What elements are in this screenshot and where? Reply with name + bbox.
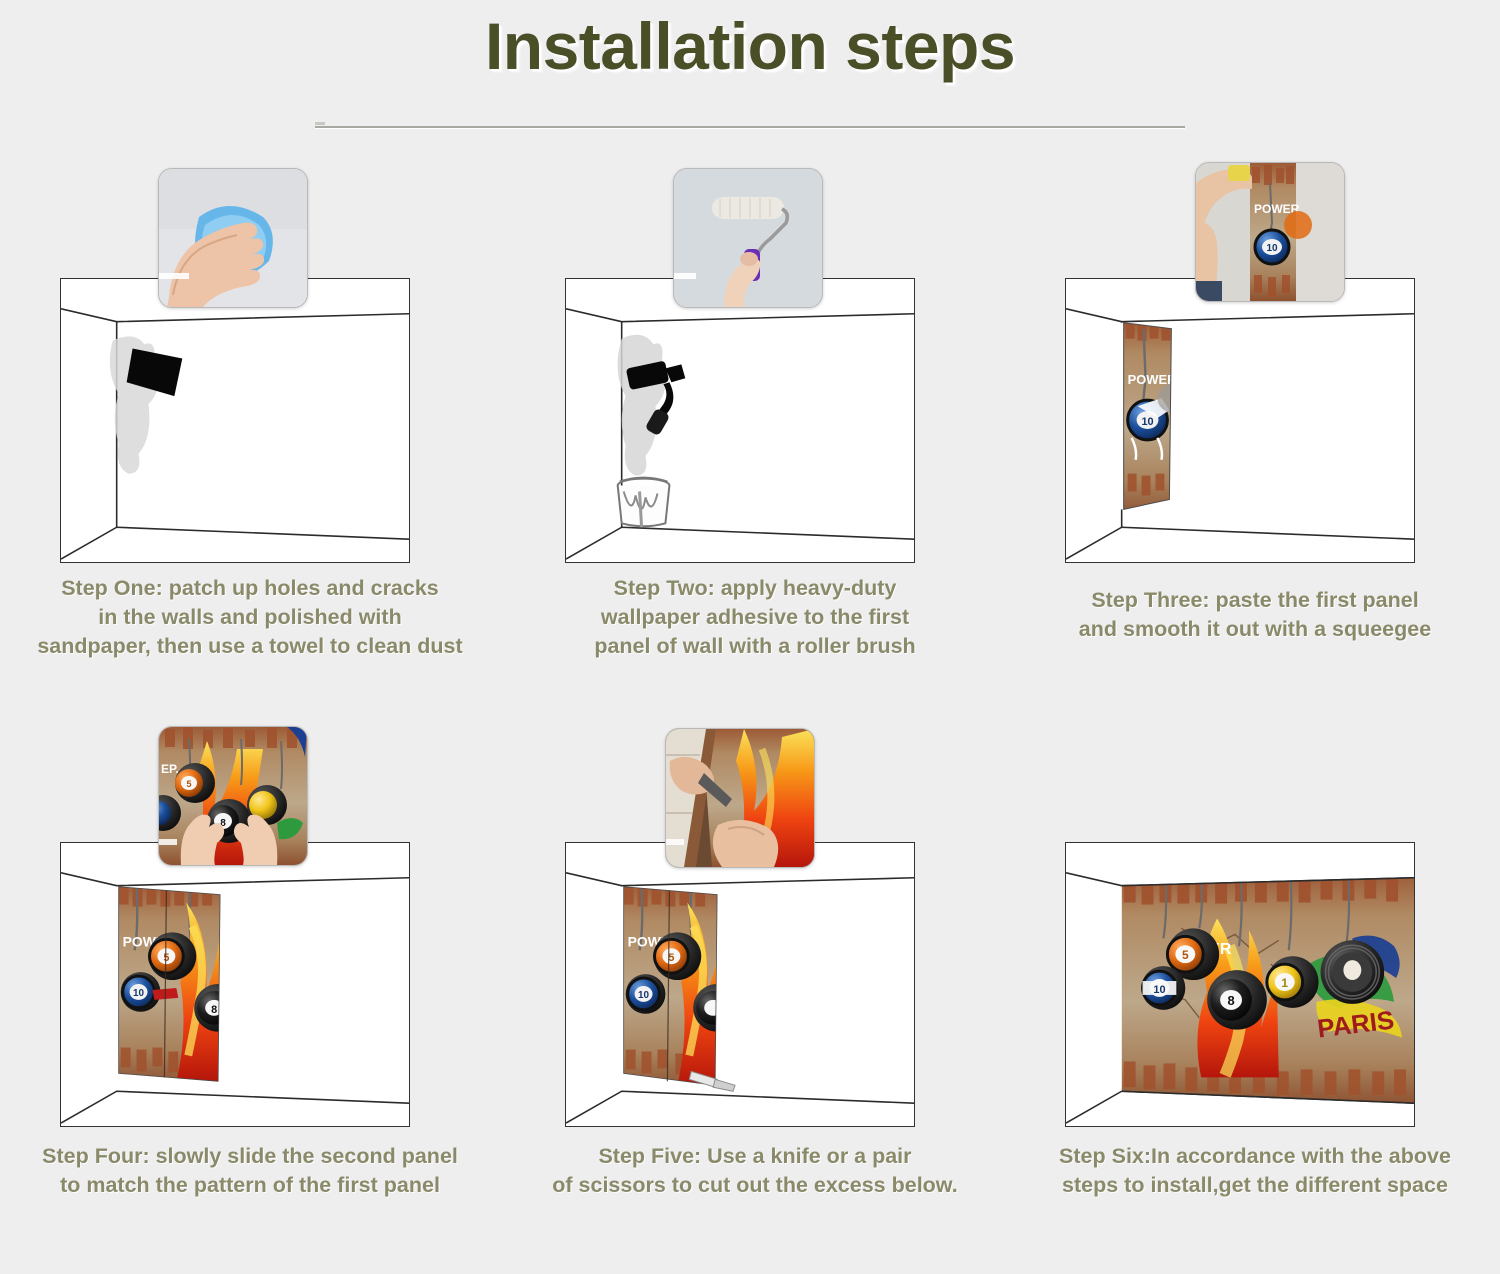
hand-wiping-wall-with-blue-cloth-photo: [158, 168, 308, 308]
knife-trimming-wallpaper-photo: [665, 728, 815, 868]
steps-row-bottom: POWER 5 10: [0, 714, 1500, 1274]
caption-step-two: Step Two: apply heavy-duty wallpaper adh…: [505, 574, 1005, 661]
room-diagram-step-four: POWER 5 10: [60, 842, 410, 1127]
two-hands-smoothing-mural-photo: EP. 5 8: [158, 726, 308, 866]
svg-text:10: 10: [1153, 984, 1165, 996]
room-diagram-step-three: POWER 10: [1065, 278, 1415, 563]
glue-bucket-icon: [618, 478, 670, 528]
svg-text:10: 10: [1141, 416, 1153, 428]
caption-step-five: Step Five: Use a knife or a pair of scis…: [505, 1142, 1005, 1200]
svg-text:5: 5: [163, 952, 169, 964]
complete-mural: POWER 5: [1120, 873, 1414, 1106]
mural-panels-two: POWER 5 10: [117, 883, 242, 1087]
room-perspective-step-one: [61, 279, 409, 562]
svg-text:10: 10: [638, 990, 650, 1001]
step-card-six: POWER 5: [1005, 714, 1500, 1274]
steps-row-top: Step One: patch up holes and cracks in t…: [0, 150, 1500, 710]
step-card-one: Step One: patch up holes and cracks in t…: [0, 150, 500, 710]
divider-cap: [315, 122, 325, 125]
svg-text:5: 5: [186, 779, 191, 789]
installation-steps-infographic: Installation steps: [0, 0, 1500, 1263]
svg-text:8: 8: [1227, 993, 1234, 1008]
person-applying-first-panel-photo: POWER 10: [1195, 162, 1345, 302]
steps-grid: Step One: patch up holes and cracks in t…: [0, 150, 1500, 1274]
caption-step-one: Step One: patch up holes and cracks in t…: [0, 574, 500, 661]
step-card-two: Step Two: apply heavy-duty wallpaper adh…: [505, 150, 1005, 710]
room-perspective-step-four: POWER 5 10: [61, 843, 409, 1126]
room-perspective-step-six: POWER 5: [1066, 843, 1414, 1126]
svg-text:8: 8: [211, 1004, 217, 1016]
svg-text:10: 10: [1266, 243, 1278, 254]
room-diagram-step-two: [565, 278, 915, 563]
step-card-five: POWER 5 10: [505, 714, 1005, 1274]
caption-step-three: Step Three: paste the first panel and sm…: [1005, 586, 1500, 644]
page-title: Installation steps: [0, 8, 1500, 84]
room-perspective-step-three: POWER 10: [1066, 279, 1414, 562]
title-divider: [315, 126, 1185, 128]
svg-text:EP.: EP.: [161, 762, 179, 776]
step-card-four: POWER 5 10: [0, 714, 500, 1274]
room-diagram-step-one: [60, 278, 410, 563]
caption-step-four: Step Four: slowly slide the second panel…: [0, 1142, 500, 1200]
hand-holding-paint-roller-photo: [673, 168, 823, 308]
svg-text:5: 5: [1182, 948, 1189, 962]
room-perspective-step-five: POWER 5 10: [566, 843, 914, 1126]
mural-panels-trimming: POWER 5 10: [622, 883, 741, 1092]
svg-text:1: 1: [1281, 976, 1288, 990]
room-perspective-step-two: [566, 279, 914, 562]
glue-smudge-icon: [618, 335, 666, 476]
caption-step-six: Step Six:In accordance with the above st…: [1005, 1142, 1500, 1200]
mural-panel-one: POWER 10: [1124, 319, 1186, 518]
svg-text:10: 10: [133, 988, 145, 999]
step-card-three: POWER 10: [1005, 150, 1500, 710]
room-diagram-step-five: POWER 5 10: [565, 842, 915, 1127]
room-diagram-step-six: POWER 5: [1065, 842, 1415, 1127]
